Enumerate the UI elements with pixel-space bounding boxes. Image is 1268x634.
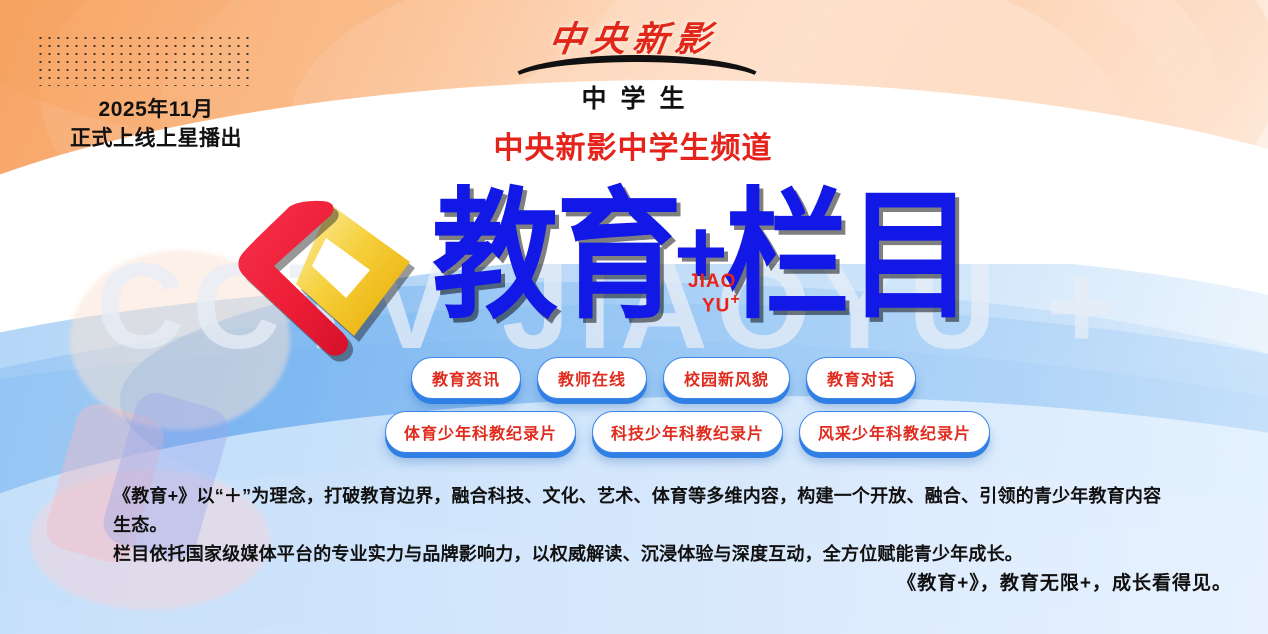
pill-button[interactable]: 校园新风貌 <box>663 357 790 399</box>
pinyin-line-2-text: YU <box>702 295 730 316</box>
pill-button[interactable]: 教育资讯 <box>411 357 521 399</box>
launch-date-block: 2025年11月 正式上线上星播出 <box>36 96 276 154</box>
pill-button[interactable]: 体育少年科教纪录片 <box>385 411 576 453</box>
pill-button[interactable]: 风采少年科教纪录片 <box>799 411 990 453</box>
pinyin-line-2: YU+ <box>688 292 741 316</box>
channel-logo-block: 中央新影 中学生 中央新影中学生频道 <box>463 22 803 167</box>
pill-button[interactable]: 科技少年科教纪录片 <box>592 411 783 453</box>
title-part-2: 栏目 <box>724 186 972 327</box>
title-pinyin: JIAO YU+ <box>688 272 741 316</box>
dot-grid-decoration <box>36 34 254 86</box>
launch-line-1: 2025年11月 <box>36 96 276 125</box>
description-line-1: 《教育+》以“＋”为理念，打破教育边界，融合科技、文化、艺术、体育等多维内容，构… <box>113 482 1175 540</box>
category-pill-row-1: 教育资讯 教师在线 校园新风貌 教育对话 <box>411 357 916 399</box>
title-part-1: 教育 <box>432 186 680 327</box>
channel-name-text: 中央新影中学生频道 <box>463 123 803 167</box>
pill-button[interactable]: 教育对话 <box>806 357 916 399</box>
pinyin-line-1: JIAO <box>688 272 741 292</box>
brand-mark-icon <box>228 196 438 371</box>
description-paragraph: 《教育+》以“＋”为理念，打破教育边界，融合科技、文化、艺术、体育等多维内容，构… <box>113 482 1175 569</box>
description-line-2: 栏目依托国家级媒体平台的专业实力与品牌影响力，以权威解读、沉浸体验与深度互动，全… <box>113 540 1175 569</box>
calligraphy-logo-text: 中央新影 <box>460 22 805 59</box>
pill-button[interactable]: 教师在线 <box>537 357 647 399</box>
pinyin-plus-icon: + <box>730 291 740 308</box>
poster-canvas: CCTV JIAOYU + 2025年11月 正式上线上星播出 中央新影 中学生… <box>0 0 1268 634</box>
launch-line-2: 正式上线上星播出 <box>36 125 276 154</box>
logo-arc-icon <box>508 61 758 83</box>
tagline-text: 《教育+》，教育无限+，成长看得见。 <box>0 568 1232 595</box>
category-pill-row-2: 体育少年科教纪录片 科技少年科教纪录片 风采少年科教纪录片 <box>385 411 990 453</box>
